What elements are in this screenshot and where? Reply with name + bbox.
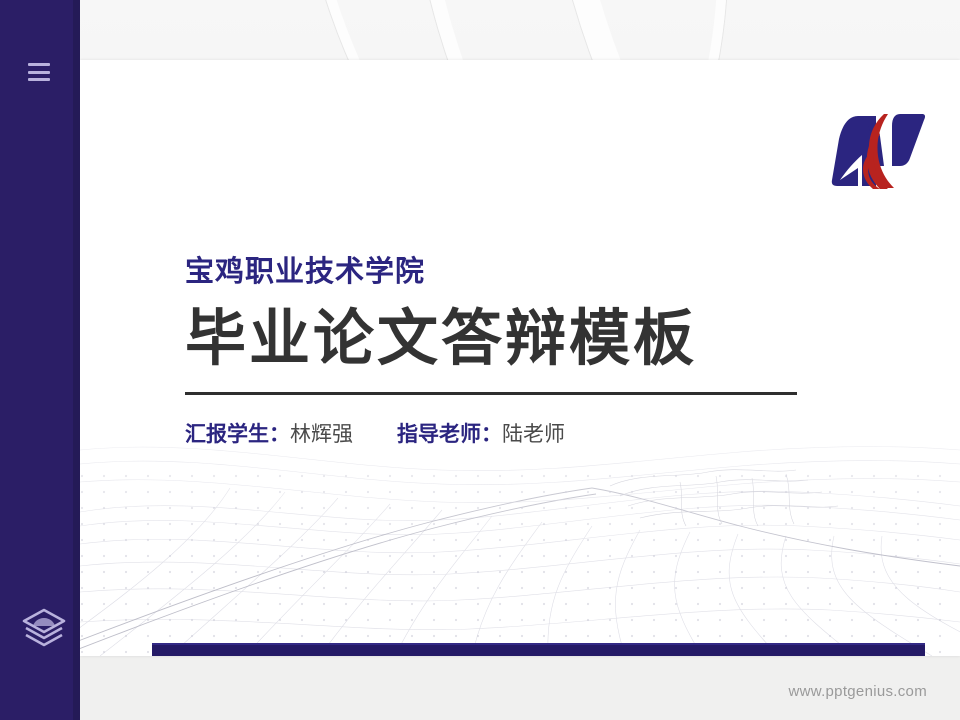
sidebar-edge: [73, 0, 80, 720]
student-name: 林辉强: [290, 423, 353, 446]
dotted-wireframe-wave-mesh: [80, 426, 960, 656]
document-viewer: www.pptgenius.com: [0, 0, 960, 720]
advisor-name: 陆老师: [502, 423, 565, 446]
left-sidebar: [0, 0, 80, 720]
title-block: 宝鸡职业技术学院 毕业论文答辩模板 汇报学生：林辉强指导老师：陆老师: [185, 255, 905, 448]
advisor-label: 指导老师：: [397, 423, 502, 446]
footer-bar: www.pptgenius.com: [80, 656, 960, 720]
hamburger-menu-icon[interactable]: [28, 63, 50, 81]
institution-logo: [828, 106, 928, 192]
slide-title: 毕业论文答辩模板: [185, 304, 905, 372]
footer-url: www.pptgenius.com: [789, 683, 928, 700]
title-divider: [185, 392, 797, 395]
slide-accent-bar: [152, 643, 925, 656]
presenter-line: 汇报学生：林辉强指导老师：陆老师: [185, 421, 905, 448]
school-name: 宝鸡职业技术学院: [185, 255, 905, 290]
slide-canvas: 宝鸡职业技术学院 毕业论文答辩模板 汇报学生：林辉强指导老师：陆老师: [80, 60, 960, 656]
hamburger-bar-2: [28, 71, 50, 74]
hamburger-bar-3: [28, 78, 50, 81]
student-label: 汇报学生：: [185, 423, 290, 446]
stacked-layers-icon[interactable]: [20, 604, 68, 652]
hamburger-bar-1: [28, 63, 50, 66]
